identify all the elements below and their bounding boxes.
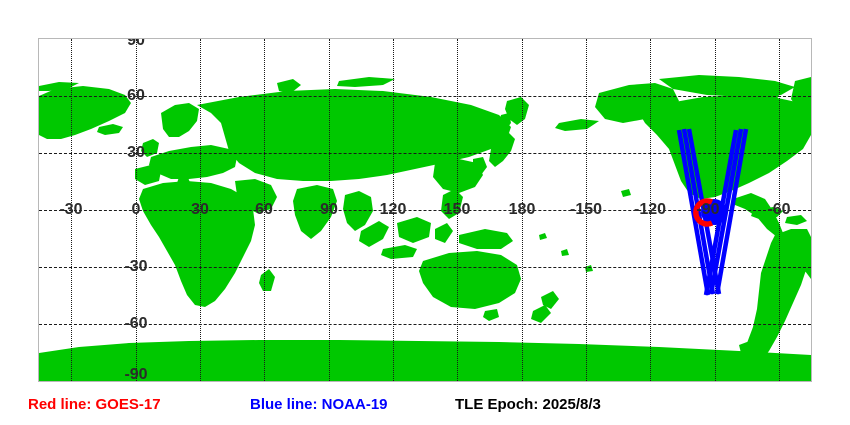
aleutians [555,119,599,131]
legend-blue-line-noaa19: Blue line: NOAA-19 [250,392,388,418]
caribbean-isles [785,215,807,225]
legend-tle-epoch: TLE Epoch: 2025/8/3 [455,392,601,418]
map-plot-area: -30 0 30 60 90 120 150 180 -150 -120 -90… [39,39,811,381]
new-guinea [459,229,513,249]
borneo [397,217,431,243]
legend-bar: Red line: GOES-17 Blue line: NOAA-19 TLE… [0,392,850,418]
pacific-isles-1 [539,233,547,240]
india [293,185,337,239]
iceland [97,124,123,135]
british-isles [141,139,159,157]
map-plot-frame: -30 0 30 60 90 120 150 180 -150 -120 -90… [38,38,812,382]
landmass-layer [39,39,811,381]
java [381,245,417,259]
scandinavia [161,103,199,137]
siberia-arctic-isles [337,77,395,87]
land-polygons [39,75,811,381]
antarctica [39,340,811,381]
new-zealand-s [531,305,551,323]
australia [419,251,521,309]
madagascar [259,269,275,291]
europe-main [149,145,237,179]
pacific-isles-3 [585,265,593,272]
north-america [639,95,811,199]
sulawesi [435,223,453,243]
pacific-isles-2 [561,249,569,256]
philippines [441,189,463,219]
tasmania [483,309,499,321]
indochina [343,191,373,231]
hawaii [621,189,631,197]
legend-red-line-goes17: Red line: GOES-17 [28,392,161,418]
satellite-track-map: -30 0 30 60 90 120 150 180 -150 -120 -90… [0,0,850,425]
africa [139,181,255,307]
